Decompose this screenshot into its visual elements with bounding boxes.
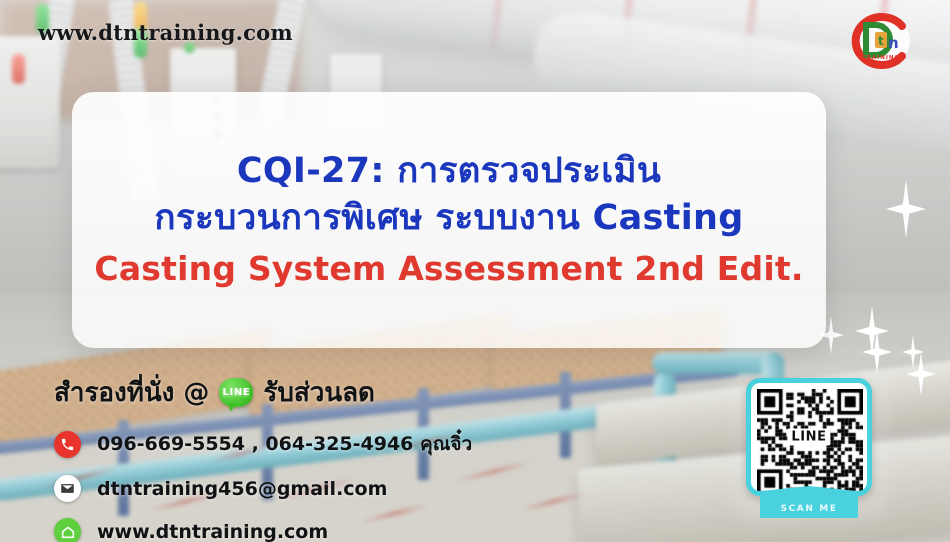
booking-headline: สำรองที่นั่ง @ LINE รับส่วนลด <box>54 372 524 413</box>
booking-block: สำรองที่นั่ง @ LINE รับส่วนลด 096-669-55… <box>54 372 524 542</box>
qr-center-label: LINE <box>787 429 830 446</box>
svg-text:TRAINING: TRAINING <box>862 55 900 61</box>
line-app-icon-label: LINE <box>223 387 251 398</box>
email-address: dtntraining456@gmail.com <box>97 478 387 500</box>
phone-numbers: 096-669-5554 , 064-325-4946 คุณจิ๋ว <box>97 429 472 459</box>
qr-frame[interactable]: LINE <box>746 378 872 496</box>
title-card: CQI-27: การตรวจประเมิน กระบวนการพิเศษ ระ… <box>72 92 826 348</box>
promo-banner: www.dtntraining.com t n TRAINING CQI-27:… <box>0 0 950 542</box>
website-url: www.dtntraining.com <box>97 521 328 542</box>
line-qr-block[interactable]: LINE SCAN ME <box>746 378 872 518</box>
contact-row-phone[interactable]: 096-669-5554 , 064-325-4946 คุณจิ๋ว <box>54 429 524 459</box>
envelope-icon <box>54 475 81 502</box>
svg-text:n: n <box>888 34 899 52</box>
contact-row-email[interactable]: dtntraining456@gmail.com <box>54 475 524 502</box>
booking-headline-after: รับส่วนลด <box>263 372 375 413</box>
scan-me-label: SCAN ME <box>780 504 837 514</box>
home-icon <box>54 518 81 542</box>
title-line-1: CQI-27: การตรวจประเมิน <box>90 149 808 194</box>
top-website-url: www.dtntraining.com <box>38 20 293 45</box>
line-app-icon[interactable]: LINE <box>219 378 253 407</box>
contact-row-website[interactable]: www.dtntraining.com <box>54 518 524 542</box>
scan-me-ribbon: SCAN ME <box>760 486 858 518</box>
phone-icon <box>54 431 81 458</box>
title-line-3: Casting System Assessment 2nd Edit. <box>90 247 808 291</box>
dtn-training-logo: t n TRAINING <box>850 12 912 70</box>
booking-headline-before: สำรองที่นั่ง @ <box>54 372 209 413</box>
title-line-2: กระบวนการพิเศษ ระบบงาน Casting <box>90 196 808 241</box>
svg-text:t: t <box>878 34 884 48</box>
